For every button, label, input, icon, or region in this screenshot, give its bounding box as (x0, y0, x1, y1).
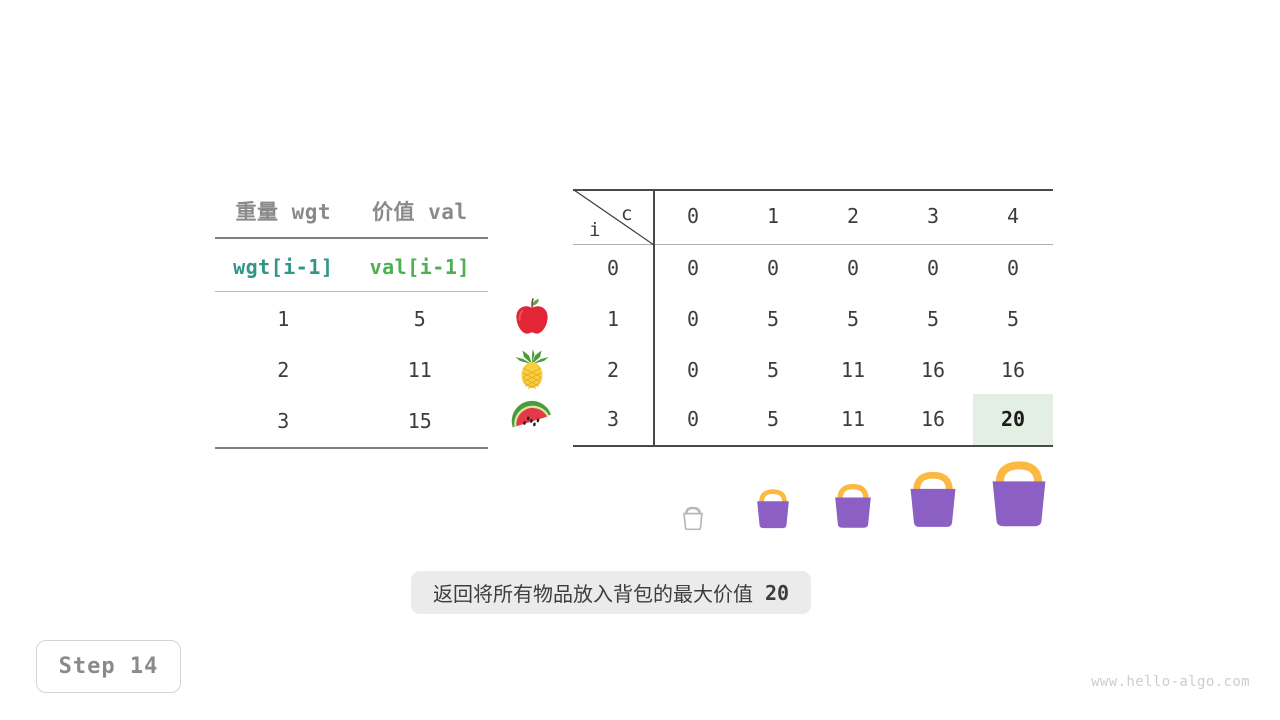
dp-cell-3-3: 16 (893, 394, 973, 445)
items-table-subheader-row: wgt[i-1] val[i-1] (215, 244, 488, 291)
items-table-top-rule (215, 237, 488, 239)
dp-cell-0-4: 0 (973, 243, 1053, 294)
dp-table-bottom-rule (573, 445, 1053, 447)
dp-col-header-1: 1 (733, 194, 813, 239)
dp-cell-1-0: 0 (653, 294, 733, 345)
bag-icon-capacity-1 (749, 483, 797, 531)
watermelon-icon (510, 398, 554, 442)
dp-row-header-2: 2 (573, 345, 653, 396)
dp-cell-1-3: 5 (893, 294, 973, 345)
dp-cell-2-1: 5 (733, 345, 813, 396)
item-value-1: 11 (352, 345, 489, 396)
apple-icon (510, 296, 554, 340)
dp-cell-3-2: 11 (813, 394, 893, 445)
items-header-weight: 重量 wgt (215, 190, 352, 234)
items-header-value: 价值 val (352, 190, 489, 234)
bag-icon-capacity-0 (679, 503, 707, 531)
dp-cell-1-2: 5 (813, 294, 893, 345)
items-table: 重量 wgt 价值 val wgt[i-1] val[i-1] 1 5 2 11… (215, 190, 488, 448)
dp-row-header-3: 3 (573, 394, 653, 445)
dp-cell-2-4: 16 (973, 345, 1053, 396)
item-value-0: 5 (352, 294, 489, 345)
bag-icon-capacity-3 (899, 463, 967, 531)
dp-cell-3-4-highlighted: 20 (973, 394, 1053, 445)
dp-cell-0-1: 0 (733, 243, 813, 294)
caption-text: 返回将所有物品放入背包的最大价值 (433, 578, 753, 607)
table-row: 2 11 (215, 345, 488, 396)
dp-cell-2-0: 0 (653, 345, 733, 396)
dp-cell-2-3: 16 (893, 345, 973, 396)
dp-col-header-2: 2 (813, 194, 893, 239)
dp-col-header-3: 3 (893, 194, 973, 239)
dp-cell-3-1: 5 (733, 394, 813, 445)
dp-cell-3-0: 0 (653, 394, 733, 445)
dp-corner-diagonal-line (573, 189, 655, 246)
dp-row-header-0: 0 (573, 243, 653, 294)
watermark: www.hello-algo.com (1091, 674, 1250, 690)
dp-corner-row-label: i (589, 219, 600, 241)
item-weight-0: 1 (215, 294, 352, 345)
dp-cell-1-1: 5 (733, 294, 813, 345)
dp-col-header-4: 4 (973, 194, 1053, 239)
table-row: 1 5 (215, 294, 488, 345)
step-badge: Step 14 (36, 640, 181, 693)
step-badge-label: Step 14 (59, 654, 159, 679)
bag-icon-capacity-4 (979, 451, 1059, 531)
dp-corner-col-label: c (621, 203, 632, 225)
caption-value: 20 (765, 581, 789, 605)
dp-row-header-1: 1 (573, 294, 653, 345)
items-table-header-row: 重量 wgt 价值 val (215, 190, 488, 234)
dp-table: c i 0 1 2 3 4 0 1 2 3 0 0 0 0 0 0 5 5 5 … (573, 189, 1053, 447)
dp-col-header-0: 0 (653, 194, 733, 239)
item-weight-1: 2 (215, 345, 352, 396)
items-table-bottom-rule (215, 447, 488, 449)
items-subheader-wgt: wgt[i-1] (215, 244, 352, 291)
item-weight-2: 3 (215, 396, 352, 447)
bag-icon-capacity-2 (826, 477, 880, 531)
item-value-2: 15 (352, 396, 489, 447)
dp-cell-0-3: 0 (893, 243, 973, 294)
pineapple-icon (510, 347, 554, 391)
dp-cell-1-4: 5 (973, 294, 1053, 345)
items-table-middle-rule (215, 291, 488, 292)
dp-cell-0-2: 0 (813, 243, 893, 294)
result-caption: 返回将所有物品放入背包的最大价值 20 (411, 571, 811, 614)
table-row: 3 15 (215, 396, 488, 447)
dp-cell-0-0: 0 (653, 243, 733, 294)
items-subheader-val: val[i-1] (352, 244, 489, 291)
dp-cell-2-2: 11 (813, 345, 893, 396)
diagram-canvas: 重量 wgt 价值 val wgt[i-1] val[i-1] 1 5 2 11… (0, 0, 1280, 720)
